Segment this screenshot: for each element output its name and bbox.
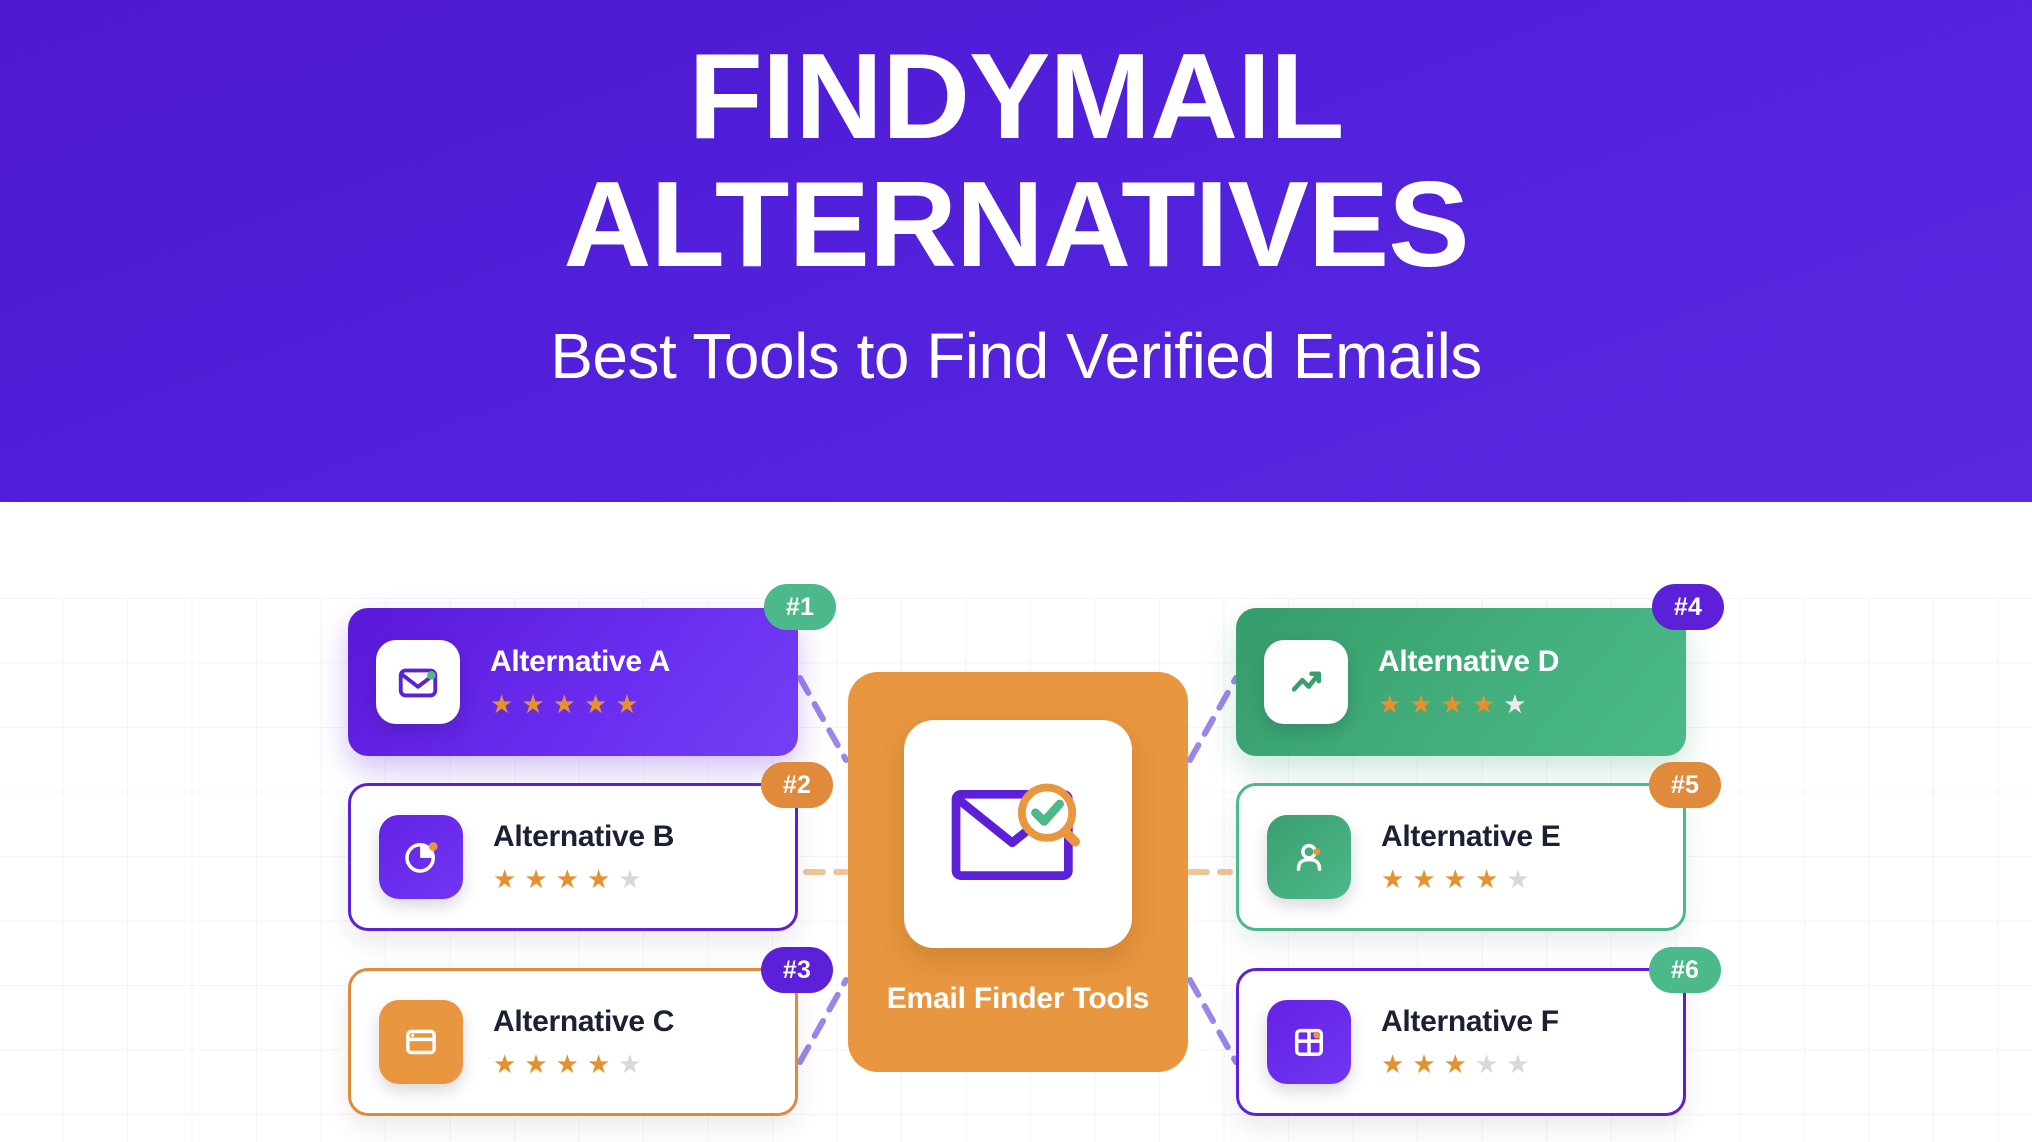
- page-header: FINDYMAIL ALTERNATIVES Best Tools to Fin…: [0, 0, 2032, 502]
- rank-badge: #1: [764, 584, 836, 630]
- star-filled: ★: [1412, 866, 1435, 892]
- grid-layout-icon: [1267, 1000, 1351, 1084]
- star-empty: ★: [618, 866, 641, 892]
- alternative-card-5[interactable]: Alternative E ★ ★ ★ ★ ★ #5: [1236, 783, 1686, 931]
- alternative-card-3[interactable]: Alternative C ★ ★ ★ ★ ★ #3: [348, 968, 798, 1116]
- star-filled: ★: [490, 691, 513, 717]
- rating-stars: ★ ★ ★ ★ ★: [1378, 691, 1559, 717]
- star-filled: ★: [1441, 691, 1464, 717]
- central-hub: Email Finder Tools: [848, 672, 1188, 1072]
- card-title: Alternative B: [493, 822, 674, 852]
- card-title: Alternative D: [1378, 647, 1559, 677]
- star-empty: ★: [1503, 691, 1526, 717]
- alternative-card-6[interactable]: Alternative F ★ ★ ★ ★ ★ #6: [1236, 968, 1686, 1116]
- connector-hub-card4: [1190, 678, 1236, 760]
- alternative-card-2[interactable]: Alternative B ★ ★ ★ ★ ★ #2: [348, 783, 798, 931]
- star-filled: ★: [1475, 866, 1498, 892]
- card-title: Alternative E: [1381, 822, 1561, 852]
- browser-window-icon: [379, 1000, 463, 1084]
- card-text-block: Alternative E ★ ★ ★ ★ ★: [1381, 822, 1561, 892]
- connector-card1-hub: [800, 678, 846, 760]
- page-title-line-2: ALTERNATIVES: [563, 162, 1468, 286]
- card-title: Alternative A: [490, 647, 670, 677]
- star-filled: ★: [1409, 691, 1432, 717]
- star-filled: ★: [1444, 1051, 1467, 1077]
- star-empty: ★: [1506, 1051, 1529, 1077]
- page-title-line-1: FINDYMAIL: [688, 34, 1343, 158]
- card-text-block: Alternative F ★ ★ ★ ★ ★: [1381, 1007, 1559, 1077]
- card-title: Alternative C: [493, 1007, 674, 1037]
- card-title: Alternative F: [1381, 1007, 1559, 1037]
- star-empty: ★: [618, 1051, 641, 1077]
- rating-stars: ★ ★ ★ ★ ★: [1381, 866, 1561, 892]
- rating-stars: ★ ★ ★ ★ ★: [490, 691, 670, 717]
- star-filled: ★: [556, 1051, 579, 1077]
- star-filled: ★: [553, 691, 576, 717]
- star-filled: ★: [556, 866, 579, 892]
- star-empty: ★: [1506, 866, 1529, 892]
- star-filled: ★: [584, 691, 607, 717]
- star-filled: ★: [1378, 691, 1401, 717]
- star-filled: ★: [587, 866, 610, 892]
- rank-badge: #3: [761, 947, 833, 993]
- star-filled: ★: [1381, 866, 1404, 892]
- infographic-page: FINDYMAIL ALTERNATIVES Best Tools to Fin…: [0, 0, 2032, 1142]
- star-filled: ★: [524, 866, 547, 892]
- envelope-icon: [376, 640, 460, 724]
- star-empty: ★: [1475, 1051, 1498, 1077]
- star-filled: ★: [1381, 1051, 1404, 1077]
- card-text-block: Alternative D ★ ★ ★ ★ ★: [1378, 647, 1559, 717]
- alternative-card-4[interactable]: Alternative D ★ ★ ★ ★ ★ #4: [1236, 608, 1686, 756]
- rating-stars: ★ ★ ★ ★ ★: [493, 1051, 674, 1077]
- star-filled: ★: [1444, 866, 1467, 892]
- star-filled: ★: [521, 691, 544, 717]
- user-icon: [1267, 815, 1351, 899]
- rating-stars: ★ ★ ★ ★ ★: [1381, 1051, 1559, 1077]
- star-filled: ★: [615, 691, 638, 717]
- rating-stars: ★ ★ ★ ★ ★: [493, 866, 674, 892]
- star-filled: ★: [524, 1051, 547, 1077]
- page-subtitle: Best Tools to Find Verified Emails: [550, 321, 1482, 391]
- rank-badge: #5: [1649, 762, 1721, 808]
- hub-label: Email Finder Tools: [887, 982, 1150, 1016]
- alternative-card-1[interactable]: Alternative A ★ ★ ★ ★ ★ #1: [348, 608, 798, 756]
- rank-badge: #2: [761, 762, 833, 808]
- star-filled: ★: [493, 866, 516, 892]
- star-filled: ★: [587, 1051, 610, 1077]
- pie-chart-icon: [379, 815, 463, 899]
- envelope-magnifier-check-icon: [904, 720, 1132, 948]
- star-filled: ★: [493, 1051, 516, 1077]
- rank-badge: #4: [1652, 584, 1724, 630]
- star-filled: ★: [1472, 691, 1495, 717]
- trending-up-icon: [1264, 640, 1348, 724]
- diagram-canvas: Alternative A ★ ★ ★ ★ ★ #1: [0, 502, 2032, 1142]
- connector-hub-card6: [1190, 980, 1236, 1062]
- card-text-block: Alternative B ★ ★ ★ ★ ★: [493, 822, 674, 892]
- card-text-block: Alternative A ★ ★ ★ ★ ★: [490, 647, 670, 717]
- star-filled: ★: [1412, 1051, 1435, 1077]
- card-text-block: Alternative C ★ ★ ★ ★ ★: [493, 1007, 674, 1077]
- rank-badge: #6: [1649, 947, 1721, 993]
